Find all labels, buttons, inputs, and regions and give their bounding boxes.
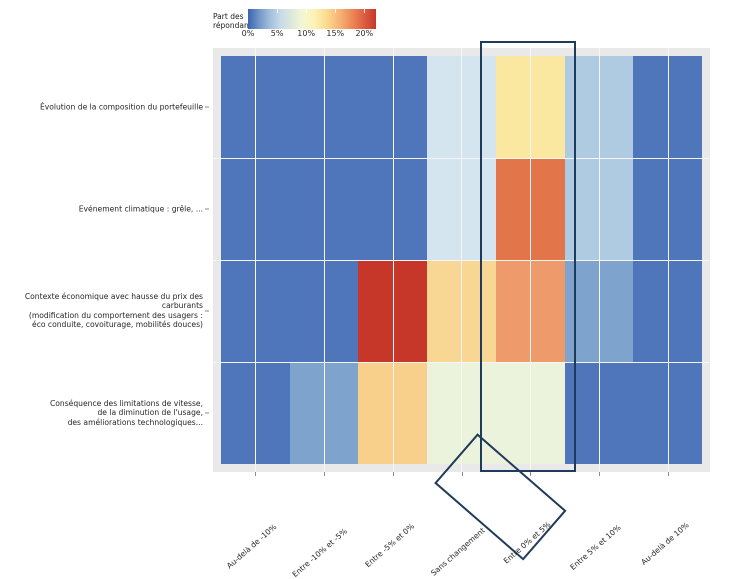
x-axis-label-text-0: Au-delà de -10% bbox=[225, 522, 278, 570]
colorbar-tick-3: 15% bbox=[326, 29, 344, 38]
background-gridline-h-1 bbox=[213, 158, 710, 159]
x-axis-label-text-2: Entre -5% et 0% bbox=[363, 522, 416, 569]
x-axis-label-text-6: Au-delà de 10% bbox=[639, 520, 690, 566]
x-axis-label-2: Entre -5% et 0% bbox=[410, 481, 463, 528]
x-axis-label-3: Sans changement bbox=[480, 481, 538, 533]
y-axis-tickmark-2 bbox=[205, 311, 209, 312]
x-axis-tickmark-6 bbox=[668, 472, 669, 476]
colorbar-tick-labels: 0%5%10%15%20% bbox=[248, 29, 376, 41]
x-axis-tickmark-2 bbox=[393, 472, 394, 476]
x-axis-tickmark-3 bbox=[462, 472, 463, 476]
heatmap-plot-area bbox=[213, 48, 710, 472]
colorbar-tick-4: 20% bbox=[355, 29, 373, 38]
x-axis-label-text-1: Entre -10% et -5% bbox=[291, 527, 349, 579]
colorbar-tickmark-3 bbox=[335, 9, 336, 13]
x-axis-label-text-3: Sans changement bbox=[429, 526, 487, 578]
colorbar-tickmark-4 bbox=[364, 9, 365, 13]
x-axis-label-text-5: Entre 5% et 10% bbox=[568, 523, 622, 572]
y-axis-label-2: Contexte économique avec hausse du prix … bbox=[0, 292, 203, 330]
colorbar-tickmark-2 bbox=[306, 9, 307, 13]
colorbar-legend: Part des répondants 0%5%10%15%20% bbox=[213, 4, 383, 44]
y-axis-tickmark-1 bbox=[205, 209, 209, 210]
colorbar-tick-1: 5% bbox=[271, 29, 284, 38]
y-axis-label-0: Évolution de la composition du portefeui… bbox=[40, 102, 203, 111]
x-axis-label-4: Entre 0% et 5% bbox=[547, 481, 598, 527]
colorbar-wrapper: 0%5%10%15%20% bbox=[248, 9, 376, 41]
y-axis-labels: Évolution de la composition du portefeui… bbox=[0, 48, 213, 472]
x-axis-tickmark-5 bbox=[599, 472, 600, 476]
x-axis-label-6: Au-delà de 10% bbox=[684, 481, 729, 527]
background-gridline-h-3 bbox=[213, 362, 710, 363]
y-axis-tickmark-0 bbox=[205, 107, 209, 108]
x-axis-tickmark-1 bbox=[324, 472, 325, 476]
x-axis-label-5: Entre 5% et 10% bbox=[617, 481, 671, 530]
background-gridline-h-2 bbox=[213, 260, 710, 261]
x-axis-labels: Au-delà de -10%Entre -10% et -5%Entre -5… bbox=[213, 472, 710, 569]
colorbar-tick-2: 10% bbox=[297, 29, 315, 38]
x-axis-label-0: Au-delà de -10% bbox=[273, 481, 326, 529]
x-axis-tickmark-4 bbox=[530, 472, 531, 476]
colorbar-tick-0: 0% bbox=[242, 29, 255, 38]
x-axis-tickmark-0 bbox=[255, 472, 256, 476]
x-axis-label-1: Entre -10% et -5% bbox=[343, 481, 401, 533]
y-axis-tickmark-3 bbox=[205, 413, 209, 414]
colorbar-gradient bbox=[248, 9, 376, 29]
colorbar-tickmark-1 bbox=[277, 9, 278, 13]
x-axis-label-text-4: Entre 0% et 5% bbox=[502, 520, 553, 566]
y-axis-label-1: Evénement climatique : grêle, ... bbox=[79, 204, 203, 213]
y-axis-label-3: Conséquence des limitations de vitesse, … bbox=[50, 399, 203, 427]
